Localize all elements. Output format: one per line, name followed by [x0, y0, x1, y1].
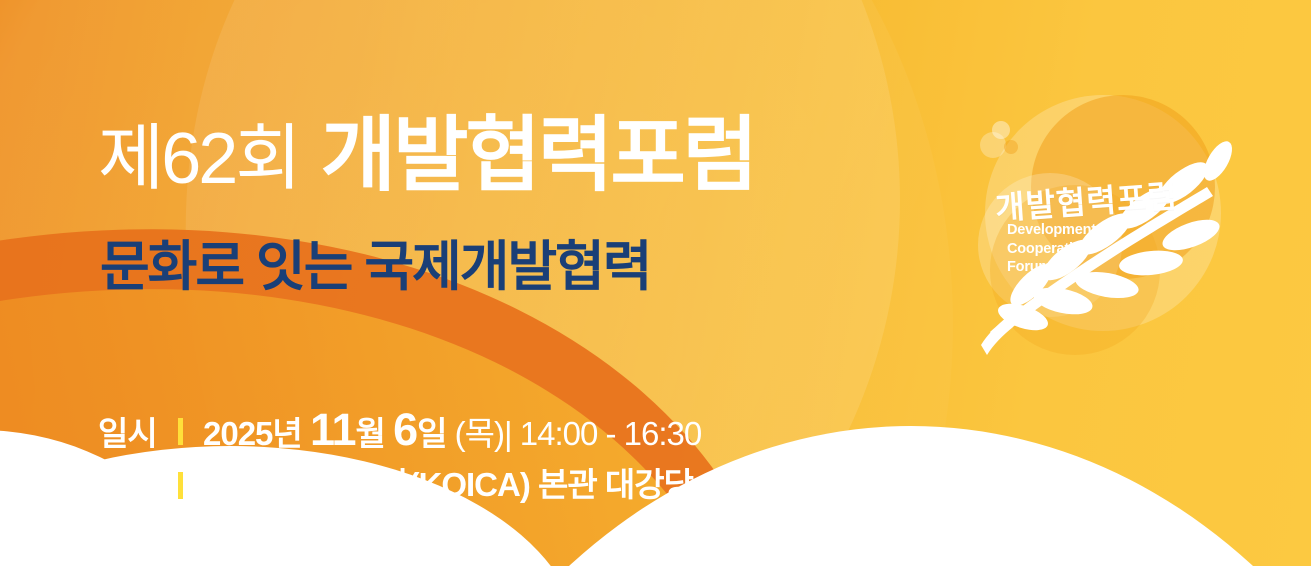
- date-time: 14:00 - 16:30: [520, 415, 702, 452]
- date-month-unit: 월: [356, 415, 385, 452]
- date-year: 2025년: [203, 415, 302, 452]
- place-value: 한국국제협력단(KOICA) 본관 대강당: [203, 458, 693, 506]
- separator-bar-icon: [178, 472, 183, 499]
- event-info: 일시 2025년 11월 6일 (목)| 14:00 - 16:30 장소 한국…: [98, 404, 701, 512]
- logo-english-line-3: Forum: [1007, 258, 1096, 277]
- info-row-place: 장소 한국국제협력단(KOICA) 본관 대강당: [98, 458, 701, 512]
- title-main: 개발협력포럼: [321, 115, 756, 197]
- logo-english-line-2: Cooperation: [1007, 240, 1096, 259]
- forum-logo: 개발협력포럼 Development Cooperation Forum: [955, 95, 1255, 360]
- date-time-separator: |: [504, 415, 512, 452]
- date-day-unit: 일: [417, 415, 446, 452]
- logo-bubble-small-2: [980, 132, 1006, 158]
- place-label: 장소: [98, 458, 172, 506]
- logo-bubble-small-3: [1004, 140, 1018, 154]
- logo-english-line-1: Development: [1007, 221, 1096, 240]
- info-row-date: 일시 2025년 11월 6일 (목)| 14:00 - 16:30: [98, 404, 701, 458]
- banner-content: 제62회 개발협력포럼 문화로 잇는 국제개발협력 일시 2025년 11월 6…: [98, 0, 928, 566]
- page-title: 제62회 개발협력포럼: [98, 115, 755, 197]
- event-banner: 제62회 개발협력포럼 문화로 잇는 국제개발협력 일시 2025년 11월 6…: [0, 0, 1311, 566]
- logo-english-text: Development Cooperation Forum: [1007, 221, 1096, 277]
- date-label: 일시: [98, 407, 172, 455]
- subtitle: 문화로 잇는 국제개발협력: [100, 240, 651, 294]
- title-prefix: 제62회: [98, 123, 299, 195]
- date-month-number: 11: [310, 404, 356, 455]
- date-value: 2025년 11월 6일 (목)| 14:00 - 16:30: [203, 404, 701, 456]
- separator-bar-icon: [178, 418, 183, 445]
- date-day-number: 6: [393, 404, 417, 455]
- date-weekday: (목): [455, 415, 504, 452]
